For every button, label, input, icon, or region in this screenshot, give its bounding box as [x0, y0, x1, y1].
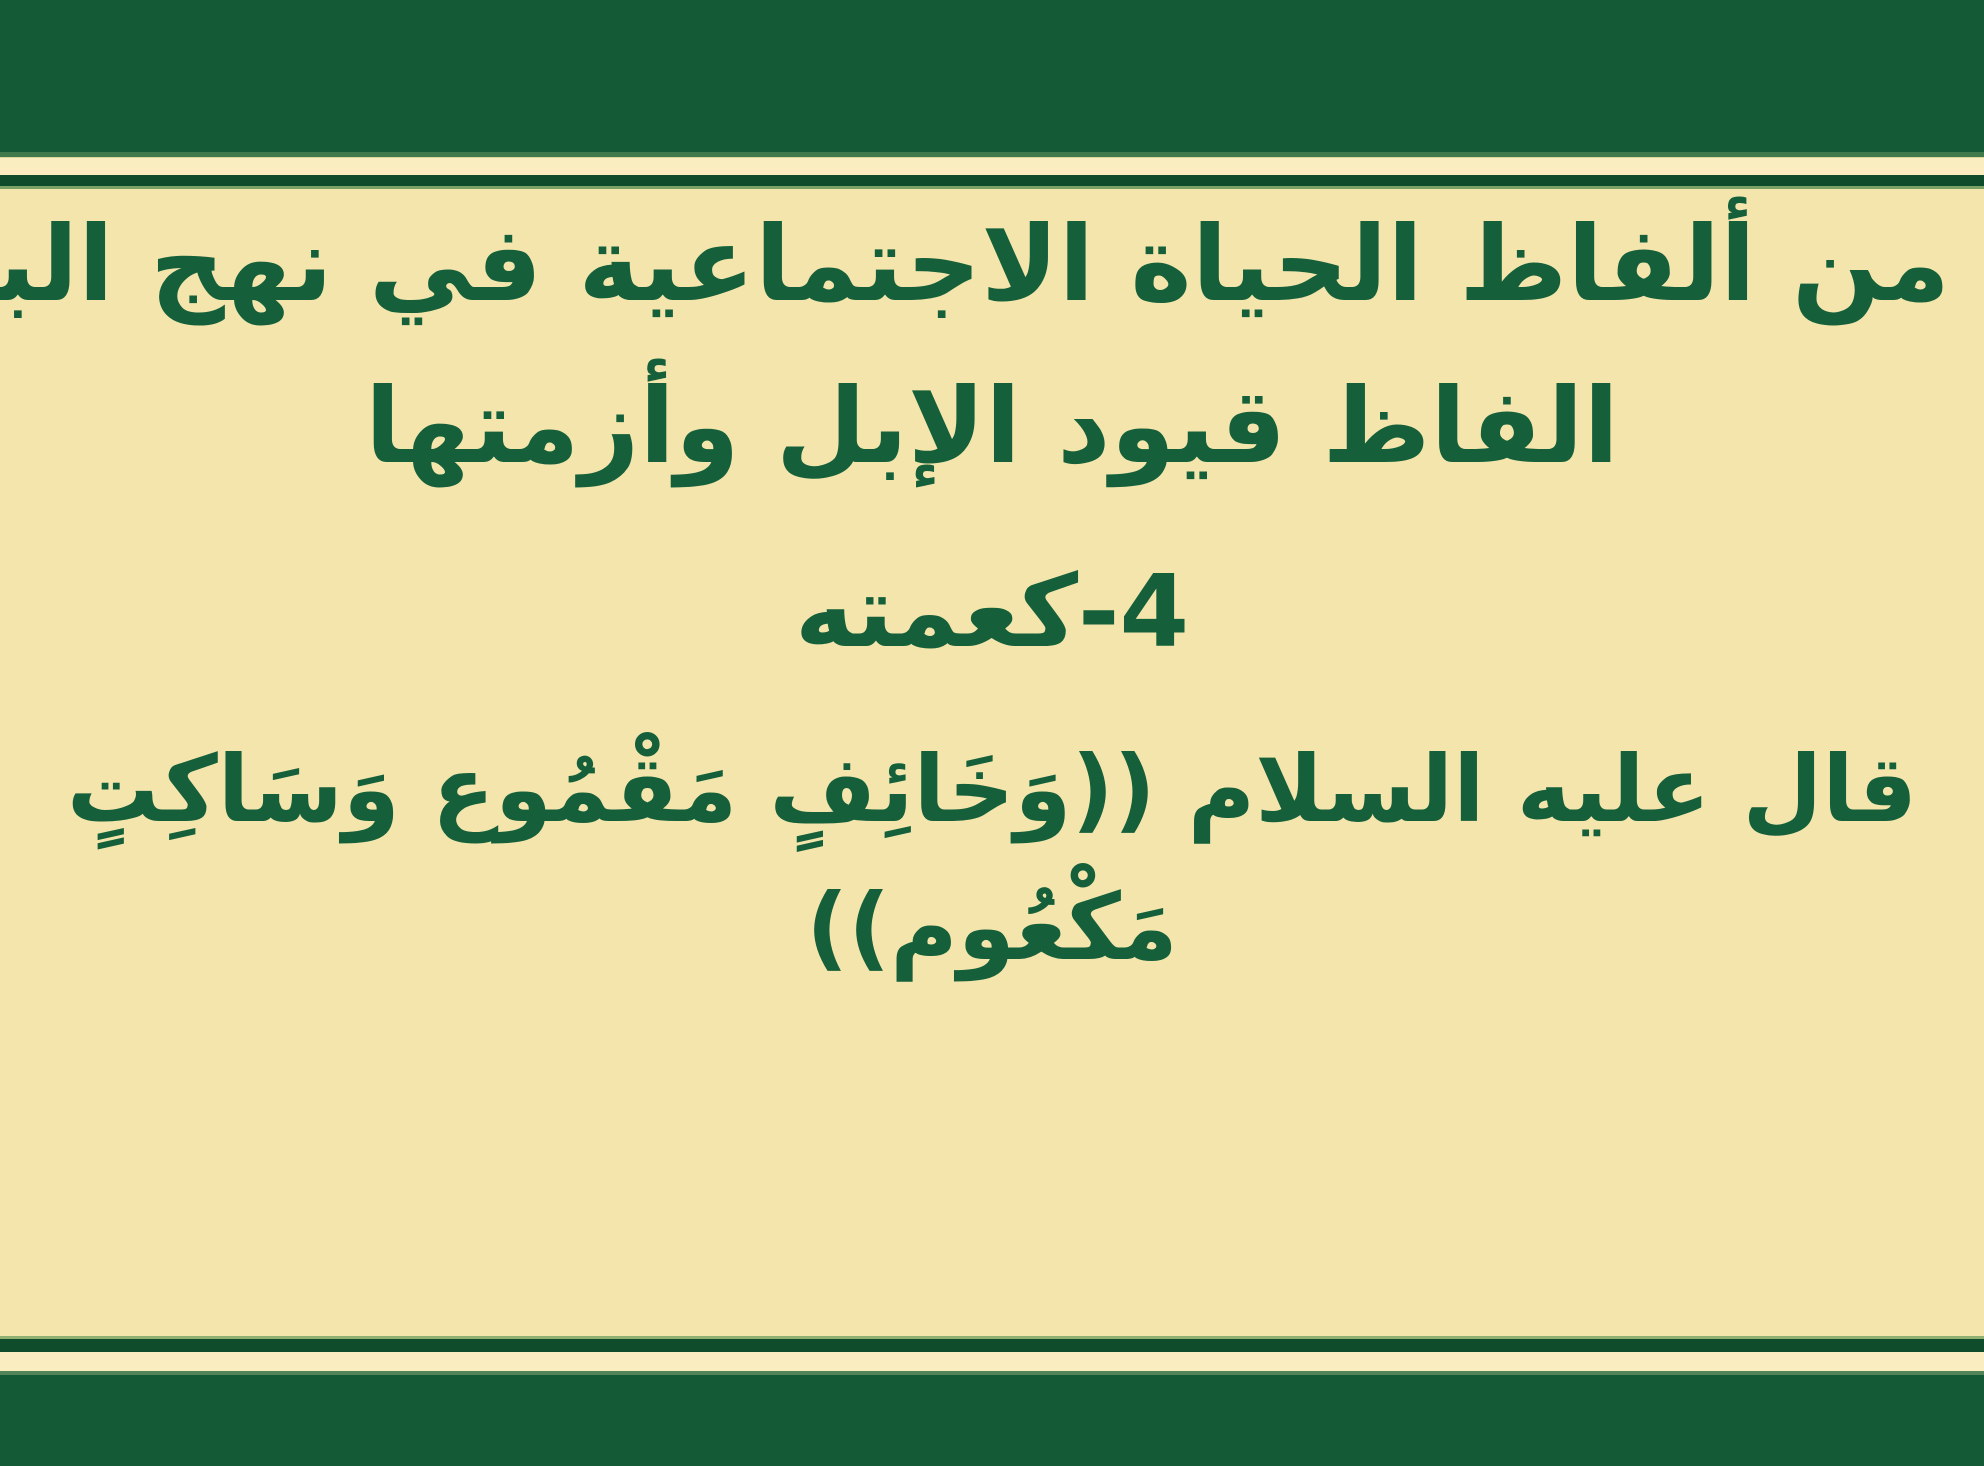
title-line-1: من ألفاظ الحياة الاجتماعية في نهج البلاغ…	[34, 211, 1950, 317]
item-heading: 4-كعمته	[34, 561, 1950, 663]
title-line-2: الفاظ قيود الإبل وأزمتها	[34, 373, 1950, 479]
bottom-cream-stripe	[0, 1352, 1984, 1372]
quote-line-1: قال عليه السلام ((وَخَائِفٍ مَقْمُوع وَس…	[34, 743, 1950, 837]
bottom-green-band	[0, 1375, 1984, 1466]
slide-root: من ألفاظ الحياة الاجتماعية في نهج البلاغ…	[0, 0, 1984, 1466]
quote-line-2: مَكْعُوم))	[34, 881, 1950, 975]
slide-content: من ألفاظ الحياة الاجتماعية في نهج البلاغ…	[0, 189, 1984, 1336]
top-cream-stripe	[0, 157, 1984, 176]
bottom-green-rule	[0, 1339, 1984, 1352]
top-green-band	[0, 0, 1984, 156]
